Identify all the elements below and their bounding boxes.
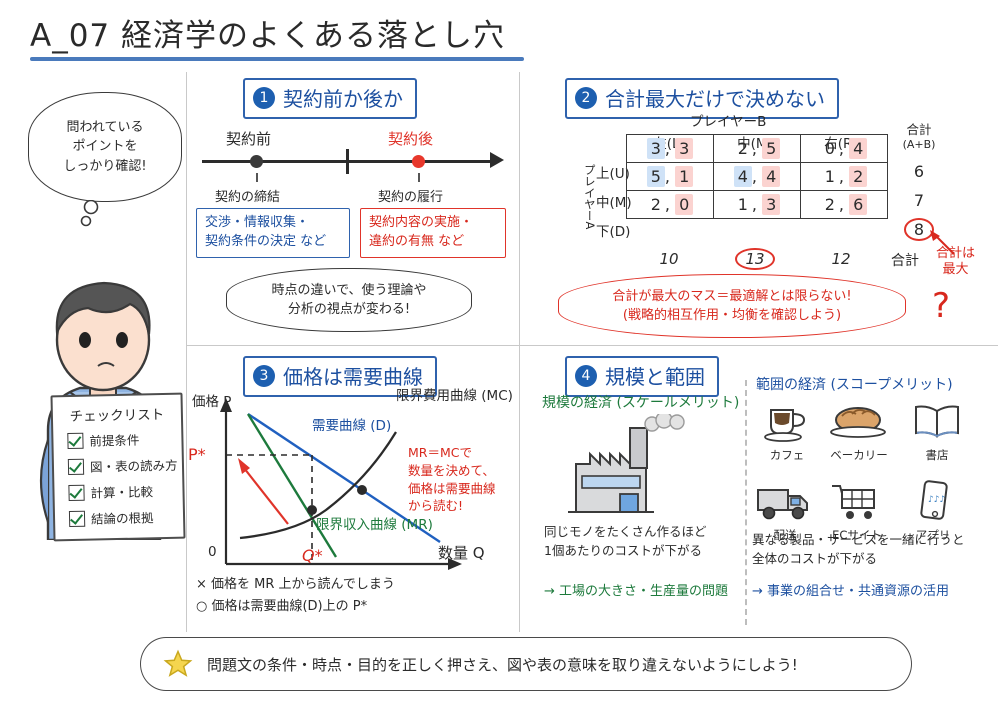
footer-text: 問題文の条件・時点・目的を正しく押さえ、図や表の意味を取り違えないようにしよう! [207, 654, 798, 675]
total-row-label: 合計 [880, 250, 930, 270]
coffee-cup-icon [762, 400, 812, 442]
thought-bubble-tail [78, 200, 102, 230]
scope-icon-bakery-label: ベーカリー [826, 447, 892, 463]
star-icon [163, 649, 193, 679]
section-1-cloud-text: 時点の違いで、使う理論や 分析の視点が変わる! [261, 277, 436, 324]
checklist-label-2: 計算・比較 [90, 481, 153, 501]
cell-m-l[interactable]: 5, 1 [627, 163, 714, 191]
post-contract-note: 契約内容の実施・ 違約の有無 など [360, 208, 506, 258]
scope-economy-heading: 範囲の経済 (スコープメリット) [756, 374, 953, 394]
page-title: A_07 経済学のよくある落とし穴 [30, 10, 550, 55]
section-3-annotation-line-3: 価格は需要曲線 [408, 480, 496, 498]
row-total-0: 6 [888, 162, 950, 181]
total-max-note-line-2: 最大 [936, 262, 975, 278]
cell-m-m-b: 4 [762, 166, 780, 187]
section-2-body: プレイヤーB プレイヤーA 左(L) 中(M) 右(R) 合計 (A+B) 上(… [540, 78, 998, 340]
cell-u-r-a: 0 [821, 138, 839, 159]
checkbox-2[interactable] [68, 484, 84, 500]
open-book-icon [910, 400, 964, 442]
cell-u-l-a: 3 [647, 138, 665, 159]
section-3-body: 価格 P 数量 Q 0 P* Q* 需要 [190, 352, 520, 630]
scope-icon-bakery: ベーカリー [826, 400, 892, 463]
cell-m-l-a: 5 [647, 166, 665, 187]
scale-economy-footer: → 工場の大きさ・生産量の問題 [544, 580, 728, 599]
question-mark: ? [932, 286, 950, 326]
timeline-sub-before: 契約の締結 [215, 186, 280, 205]
scale-economy-body: 同じモノをたくさん作るほど 1個あたりのコストが下がる [544, 522, 707, 561]
cell-d-l[interactable]: 2, 0 [627, 191, 714, 219]
section-3-annotation-line-2: 数量を決めて、 [408, 462, 496, 480]
section-3-annotation: MR＝MCで 数量を決めて、 価格は需要曲線 から読む! [408, 444, 496, 515]
pre-contract-note-line-2: 契約条件の決定 など [205, 233, 341, 252]
mr-curve-legend: 限界収入曲線 (MR) [316, 517, 433, 535]
section-1-cloud: 時点の違いで、使う理論や 分析の視点が変わる! [226, 268, 472, 332]
mc-curve-legend: 限界費用曲線 (MC) [396, 388, 513, 406]
timeline-stub-right [418, 173, 420, 182]
row-player-label: プレイヤーA [582, 164, 596, 231]
section-1-cloud-line-2: 分析の視点が変わる! [271, 300, 426, 320]
col-total-1-value: 13 [735, 248, 774, 270]
timeline-sub-after: 契約の履行 [378, 186, 443, 205]
checklist-item-1[interactable]: 図・表の読み方 [68, 455, 178, 476]
timeline-stub-left [256, 173, 258, 182]
svg-text:♪♪♪: ♪♪♪ [928, 495, 945, 505]
cell-d-m-b: 3 [762, 194, 780, 215]
checklist-label-1: 図・表の読み方 [90, 455, 178, 476]
cell-u-m[interactable]: 2, 5 [714, 135, 801, 163]
col-player-label: プレイヤーB [690, 110, 766, 130]
scope-economy-body-line-2: 全体のコストが下がる [752, 549, 965, 568]
scale-economy-body-line-2: 1個あたりのコストが下がる [544, 541, 707, 560]
thought-line-1: 問われている [63, 118, 146, 138]
scale-economy-heading: 規模の経済 (スケールメリット) [542, 392, 739, 412]
post-contract-note-line-2: 違約の有無 など [369, 233, 497, 252]
cell-d-m-a: 1 [734, 194, 752, 215]
timeline-arrow-icon [490, 152, 504, 168]
scope-economy-footer: → 事業の組合せ・共通資源の活用 [752, 580, 949, 599]
cell-d-r[interactable]: 2, 6 [801, 191, 888, 219]
section-2-cloud-text: 合計が最大のマス＝最適解とは限らない! (戦略的相互作用・均衡を確認しよう) [602, 283, 861, 330]
col-total-1-highlighted: 13 [712, 248, 798, 270]
thought-line-2: ポイントを [63, 137, 146, 157]
checklist-clipboard: チェックリスト 前提条件 図・表の読み方 計算・比較 結論の根拠 [50, 393, 185, 542]
scope-icon-bookstore: 書店 [904, 400, 970, 463]
section-2-cloud-line-2: (戦略的相互作用・均衡を確認しよう) [612, 306, 851, 326]
scope-icon-bookstore-label: 書店 [904, 447, 970, 463]
chart-quantity-star-label: Q* [302, 546, 323, 565]
checklist-item-2[interactable]: 計算・比較 [68, 481, 153, 502]
cell-u-r-b: 4 [849, 138, 867, 159]
cell-m-r[interactable]: 1, 2 [801, 163, 888, 191]
total-max-note-line-1: 合計は [936, 246, 975, 262]
section-3-bad-line: × 価格を MR 上から読んでしまう [196, 574, 395, 596]
section-3-annotation-line-1: MR＝MCで [408, 444, 496, 462]
cell-u-m-b: 5 [762, 138, 780, 159]
bread-icon [830, 400, 888, 442]
total-col-header: 合計 (A+B) [888, 122, 950, 151]
smartphone-icon: ♪♪♪ [913, 480, 953, 522]
cell-d-m[interactable]: 1, 3 [714, 191, 801, 219]
timeline-dot-before [250, 155, 263, 168]
scope-icon-cafe-label: カフェ [754, 447, 820, 463]
checklist-item-0[interactable]: 前提条件 [67, 430, 139, 451]
cell-u-m-a: 2 [734, 138, 752, 159]
section-2-cloud: 合計が最大のマス＝最適解とは限らない! (戦略的相互作用・均衡を確認しよう) [558, 274, 906, 338]
cell-u-r[interactable]: 0, 4 [801, 135, 888, 163]
factory-icon [558, 414, 738, 522]
timeline-dot-after [412, 155, 425, 168]
timeline-tick [346, 149, 349, 174]
checkbox-1[interactable] [68, 458, 84, 474]
total-col-header-2: (A+B) [888, 138, 950, 152]
section-2-cloud-line-1: 合計が最大のマス＝最適解とは限らない! [612, 287, 851, 307]
row-header-2: 下(D) [596, 220, 630, 240]
checklist-item-3[interactable]: 結論の根拠 [69, 507, 154, 528]
horizontal-divider [186, 345, 998, 346]
scope-economy-body: 異なる製品・サービスを一緒に行うと 全体のコストが下がる [752, 530, 965, 569]
chart-price-star-label: P* [188, 445, 206, 464]
payoff-matrix-table: 3, 3 2, 5 0, 4 5, 1 4, 4 1, 2 [626, 134, 888, 219]
demand-curve-legend-text: 需要曲線 (D) [312, 418, 391, 436]
section-4-body: 規模の経済 (スケールメリット) 同じモノをたくさん作るほど 1個あたりのコスト… [540, 352, 998, 630]
row-total-1: 7 [888, 191, 950, 210]
truck-icon [754, 480, 816, 522]
section-3-good-line: ○ 価格は需要曲線(D)上の P* [196, 596, 367, 618]
demand-curve-legend: 需要曲線 (D) [312, 418, 391, 436]
timeline-label-before: 契約前 [226, 128, 271, 149]
post-contract-note-line-1: 契約内容の実施・ [369, 214, 497, 233]
section-3-annotation-line-4: から読む! [408, 497, 496, 515]
cell-m-m-a: 4 [734, 166, 752, 187]
mr-curve-legend-text: 限界収入曲線 (MR) [316, 517, 433, 535]
mc-curve-legend-text: 限界費用曲線 (MC) [396, 388, 513, 406]
cell-m-l-b: 1 [675, 166, 693, 187]
checkbox-3[interactable] [69, 510, 85, 526]
cell-u-l[interactable]: 3, 3 [627, 135, 714, 163]
table-row: 5, 1 4, 4 1, 2 [627, 163, 888, 191]
section-1-cloud-line-1: 時点の違いで、使う理論や [271, 281, 426, 301]
row-player-text: プレイヤーA [583, 164, 595, 229]
total-max-note: 合計は 最大 [936, 246, 975, 279]
worksheet-page: A_07 経済学のよくある落とし穴 問われている ポイントを しっかり確認! [0, 0, 1000, 707]
pre-contract-note: 交渉・情報収集・ 契約条件の決定 など [196, 208, 350, 258]
total-col-header-1: 合計 [888, 122, 950, 138]
cell-m-r-a: 1 [821, 166, 839, 187]
checklist-label-3: 結論の根拠 [91, 507, 154, 527]
cell-m-m[interactable]: 4, 4 [714, 163, 801, 191]
table-row: 3, 3 2, 5 0, 4 [627, 135, 888, 163]
col-total-2: 12 [798, 250, 884, 268]
cell-u-l-b: 3 [675, 138, 693, 159]
col-total-0: 10 [626, 250, 712, 268]
title-underline [30, 57, 524, 61]
table-row: 2, 0 1, 3 2, 6 [627, 191, 888, 219]
pre-contract-note-line-1: 交渉・情報収集・ [205, 214, 341, 233]
cell-d-r-b: 6 [849, 194, 867, 215]
thought-bubble-text: 問われている ポイントを しっかり確認! [53, 114, 156, 181]
thought-bubble: 問われている ポイントを しっかり確認! [28, 92, 182, 202]
footer-banner: 問題文の条件・時点・目的を正しく押さえ、図や表の意味を取り違えないようにしよう! [140, 637, 912, 691]
checklist-label-0: 前提条件 [89, 430, 139, 450]
cell-m-r-b: 2 [849, 166, 867, 187]
cell-d-l-b: 0 [675, 194, 693, 215]
cell-d-l-a: 2 [647, 194, 665, 215]
scope-icon-cafe: カフェ [754, 400, 820, 463]
cell-d-r-a: 2 [821, 194, 839, 215]
section-1-body: 契約前 契約後 契約の締結 契約の履行 交渉・情報収集・ 契約条件の決定 など … [190, 78, 520, 340]
thought-line-3: しっかり確認! [63, 157, 146, 177]
scale-economy-body-line-1: 同じモノをたくさん作るほど [544, 522, 707, 541]
checkbox-0[interactable] [67, 432, 83, 448]
shopping-cart-icon [828, 480, 886, 522]
checklist-title: チェックリスト [53, 403, 181, 426]
timeline-label-after: 契約後 [388, 128, 433, 149]
title-block: A_07 経済学のよくある落とし穴 [30, 10, 550, 66]
scope-economy-body-line-1: 異なる製品・サービスを一緒に行うと [752, 530, 965, 549]
row-header-0: 上(U) [596, 162, 630, 182]
